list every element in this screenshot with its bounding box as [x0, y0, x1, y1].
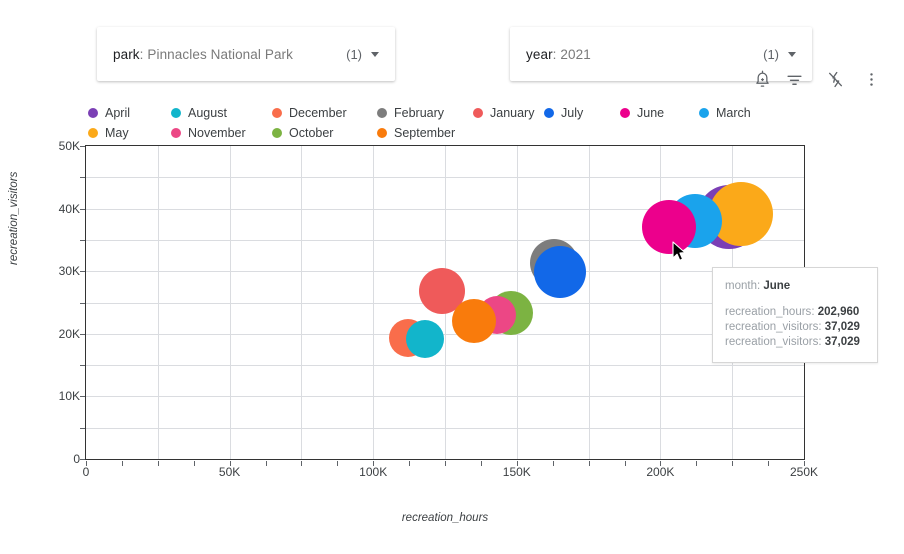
x-axis-tick-mark: [625, 461, 626, 466]
legend-item-march[interactable]: March: [699, 103, 751, 123]
legend-item-label: April: [105, 106, 130, 120]
x-axis-tick-mark: [517, 461, 518, 466]
y-axis-tick-label: 30K: [59, 264, 80, 278]
x-axis-tick-mark: [660, 461, 661, 466]
tooltip-row: recreation_hours: 202,960: [725, 305, 865, 320]
x-axis-tick-mark: [768, 461, 769, 466]
legend-color-swatch-icon: [699, 108, 709, 118]
x-axis-tick-mark: [337, 461, 338, 466]
legend-item-label: January: [490, 106, 534, 120]
alert-bell-icon[interactable]: [751, 68, 773, 90]
legend-color-swatch-icon: [272, 108, 282, 118]
legend-item-label: October: [289, 126, 333, 140]
filter-icon[interactable]: [783, 68, 805, 90]
y-axis-tick-label: 0: [73, 452, 80, 466]
x-axis-tick-label: 0: [83, 465, 90, 479]
filter-chip-park-controls[interactable]: (1): [346, 47, 379, 62]
legend-item-october[interactable]: October: [272, 123, 333, 143]
filter-chip-park-value: Pinnacles National Park: [147, 47, 293, 62]
x-axis-tick-mark: [373, 461, 374, 466]
filter-chip-park-count: (1): [346, 47, 362, 62]
legend-color-swatch-icon: [171, 108, 181, 118]
data-point-tooltip: month: June recreation_hours: 202,960rec…: [712, 267, 878, 363]
x-axis-tick-mark: [589, 461, 590, 466]
x-axis-tick-mark: [481, 461, 482, 466]
legend-item-july[interactable]: July: [544, 103, 583, 123]
legend-item-december[interactable]: December: [272, 103, 347, 123]
legend-color-swatch-icon: [171, 128, 181, 138]
legend-item-label: March: [716, 106, 751, 120]
tooltip-row-key: recreation_hours: [725, 306, 811, 318]
grid-line-vertical: [158, 146, 159, 459]
data-point-september[interactable]: [452, 299, 496, 343]
tooltip-row-key: recreation_visitors: [725, 336, 818, 348]
tooltip-row: recreation_visitors: 37,029: [725, 320, 865, 335]
y-axis-tick-label: 10K: [59, 389, 80, 403]
tooltip-row-key: recreation_visitors: [725, 321, 818, 333]
legend-item-label: July: [561, 106, 583, 120]
scatter-plot-area[interactable]: [85, 145, 805, 460]
tooltip-row-value: 37,029: [825, 336, 860, 348]
legend-color-swatch-icon: [377, 128, 387, 138]
legend-item-september[interactable]: September: [377, 123, 455, 143]
legend-item-label: August: [188, 106, 227, 120]
tooltip-spacer: [725, 294, 865, 305]
y-axis-tick-label: 50K: [59, 139, 80, 153]
data-point-july[interactable]: [534, 246, 586, 298]
legend-item-june[interactable]: June: [620, 103, 664, 123]
filter-chip-year-controls[interactable]: (1): [763, 47, 796, 62]
tooltip-row: recreation_visitors: 37,029: [725, 335, 865, 350]
x-axis-tick-label: 250K: [790, 465, 818, 479]
y-axis: 010K20K30K40K50K: [30, 145, 80, 460]
legend-item-august[interactable]: August: [171, 103, 227, 123]
y-axis-tick-label: 40K: [59, 202, 80, 216]
legend-item-label: December: [289, 106, 347, 120]
grid-line-vertical: [589, 146, 590, 459]
legend-color-swatch-icon: [88, 108, 98, 118]
x-axis-tick-label: 200K: [646, 465, 674, 479]
chevron-down-icon[interactable]: [371, 52, 379, 57]
grid-line-vertical: [230, 146, 231, 459]
legend-color-swatch-icon: [88, 128, 98, 138]
tooltip-row-value: 202,960: [818, 306, 860, 318]
legend-item-february[interactable]: February: [377, 103, 444, 123]
x-axis-tick-mark: [409, 461, 410, 466]
x-axis-tick-mark: [553, 461, 554, 466]
tooltip-title-value: June: [763, 280, 790, 292]
filter-chip-year-value: 2021: [560, 47, 590, 62]
legend-color-swatch-icon: [377, 108, 387, 118]
legend-item-label: February: [394, 106, 444, 120]
filter-chip-park-text: park: Pinnacles National Park: [113, 47, 293, 62]
x-axis-tick-mark: [445, 461, 446, 466]
legend-item-january[interactable]: January: [473, 103, 534, 123]
x-axis-ticks: [85, 461, 805, 467]
flash-off-icon[interactable]: [824, 68, 846, 90]
x-axis-title: recreation_hours: [0, 512, 890, 524]
legend-item-april[interactable]: April: [88, 103, 130, 123]
filter-chip-park[interactable]: park: Pinnacles National Park (1): [97, 27, 395, 81]
x-axis-tick-mark: [266, 461, 267, 466]
tooltip-title-key: month: [725, 280, 757, 292]
tooltip-row-value: 37,029: [825, 321, 860, 333]
legend-item-label: September: [394, 126, 455, 140]
legend-color-swatch-icon: [473, 108, 483, 118]
x-axis-tick-mark: [732, 461, 733, 466]
dashboard-canvas: park: Pinnacles National Park (1) year: …: [0, 0, 904, 554]
x-axis-tick-label: 100K: [359, 465, 387, 479]
x-axis-tick-mark: [86, 461, 87, 466]
x-axis-tick-mark: [194, 461, 195, 466]
x-axis: 050K100K150K200K250K: [85, 465, 805, 485]
grid-line-vertical: [660, 146, 661, 459]
legend-color-swatch-icon: [544, 108, 554, 118]
x-axis-tick-label: 150K: [503, 465, 531, 479]
legend-item-may[interactable]: May: [88, 123, 129, 143]
filter-chip-year-text: year: 2021: [526, 47, 591, 62]
x-axis-tick-mark: [122, 461, 123, 466]
data-point-august[interactable]: [406, 320, 444, 358]
x-axis-tick-mark: [158, 461, 159, 466]
mouse-cursor: [672, 241, 688, 268]
x-axis-tick-mark: [804, 461, 805, 466]
x-axis-tick-mark: [696, 461, 697, 466]
y-axis-tick-label: 20K: [59, 327, 80, 341]
legend-item-november[interactable]: November: [171, 123, 246, 143]
tooltip-title: month: June: [725, 279, 865, 294]
legend-item-label: June: [637, 106, 664, 120]
x-axis-tick-mark: [230, 461, 231, 466]
chart-legend: AprilAugustDecemberFebruaryJanuaryJulyJu…: [88, 103, 878, 143]
tooltip-rows: recreation_hours: 202,960recreation_visi…: [725, 305, 865, 350]
legend-item-label: May: [105, 126, 129, 140]
legend-item-label: November: [188, 126, 246, 140]
x-axis-tick-mark: [301, 461, 302, 466]
grid-line-vertical: [301, 146, 302, 459]
filter-chip-year-count: (1): [763, 47, 779, 62]
legend-color-swatch-icon: [620, 108, 630, 118]
chevron-down-icon[interactable]: [788, 52, 796, 57]
filter-chip-park-key: park: [113, 47, 140, 62]
y-axis-title: recreation_visitors: [8, 172, 20, 265]
more-vert-icon[interactable]: [860, 68, 882, 90]
x-axis-tick-label: 50K: [219, 465, 240, 479]
legend-color-swatch-icon: [272, 128, 282, 138]
filter-chip-year-key: year: [526, 47, 553, 62]
grid-line-vertical: [373, 146, 374, 459]
